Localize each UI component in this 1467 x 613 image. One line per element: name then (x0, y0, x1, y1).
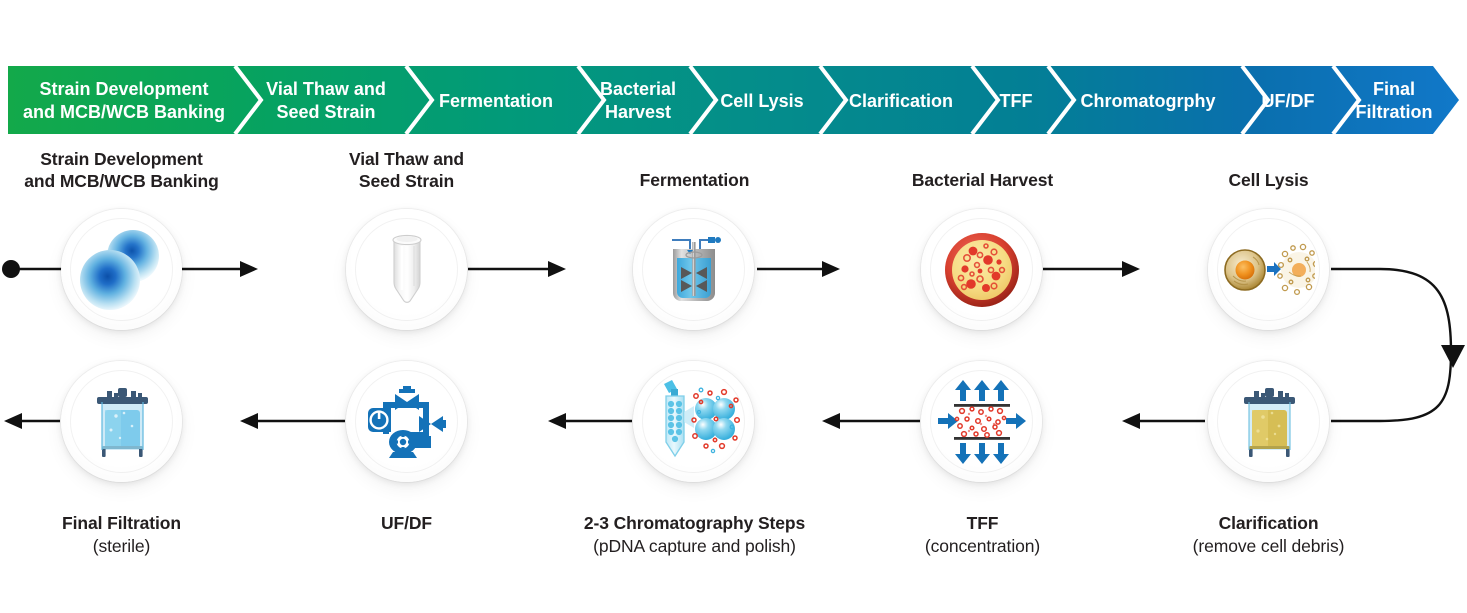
process-step-banner: Strain Developmentand MCB/WCB Banking Vi… (8, 66, 1459, 134)
bottom-label-tff: TFF (concentration) (861, 490, 1104, 580)
u-turn-arrowhead (1441, 345, 1465, 368)
node-final-filtration[interactable] (61, 361, 182, 482)
petri-dish-icon (936, 224, 1028, 316)
node-fermentation[interactable] (633, 209, 754, 330)
tangential-flow-icon (936, 376, 1028, 468)
bioreactor-icon (648, 224, 740, 316)
banner-step-2-label: Fermentation (439, 91, 553, 111)
node-vial-thaw[interactable] (346, 209, 467, 330)
bottom-label-final-filtration-sub: (sterile) (0, 535, 243, 557)
vial-tube-icon (361, 224, 453, 316)
bottom-label-chromatography-sub: (pDNA capture and polish) (538, 535, 851, 557)
node-strain-development[interactable] (61, 209, 182, 330)
top-label-vial-thaw: Vial Thaw and Seed Strain (285, 148, 528, 193)
node-bacterial-harvest[interactable] (921, 209, 1042, 330)
dividing-cells-icon (76, 224, 168, 316)
banner-step-5-label: Clarification (849, 91, 953, 111)
node-clarification[interactable] (1208, 361, 1329, 482)
bottom-label-tff-title: TFF (967, 513, 999, 533)
top-label-bacterial-harvest: Bacterial Harvest (861, 169, 1104, 191)
node-cell-lysis[interactable] (1208, 209, 1329, 330)
bottom-label-clarification-title: Clarification (1219, 513, 1319, 533)
node-tff[interactable] (921, 361, 1042, 482)
top-label-strain-development: Strain Development and MCB/WCB Banking (0, 148, 243, 193)
top-label-cell-lysis: Cell Lysis (1147, 169, 1390, 191)
bottom-label-ufdf-title: UF/DF (381, 513, 432, 533)
node-ufdf[interactable] (346, 361, 467, 482)
bottom-label-final-filtration: Final Filtration (sterile) (0, 490, 243, 580)
bottom-label-chromatography: 2-3 Chromatography Steps (pDNA capture a… (538, 490, 851, 580)
flow-start-dot (2, 260, 20, 278)
bottom-label-ufdf: UF/DF (285, 490, 528, 557)
bottom-label-tff-sub: (concentration) (861, 535, 1104, 557)
bottom-label-clarification-sub: (remove cell debris) (1147, 535, 1390, 557)
node-chromatography[interactable] (633, 361, 754, 482)
bottom-label-chromatography-title: 2-3 Chromatography Steps (584, 513, 805, 533)
bottom-label-clarification: Clarification (remove cell debris) (1147, 490, 1390, 580)
banner-step-6-label: TFF (1000, 91, 1033, 111)
cell-lysis-icon (1223, 224, 1315, 316)
banner-step-8-label: UF/DF (1262, 91, 1315, 111)
clarification-tank-icon (1223, 376, 1315, 468)
banner-step-7-label: Chromatogrphy (1081, 91, 1216, 111)
filtration-tank-icon (76, 376, 168, 468)
banner-step-4-label: Cell Lysis (720, 91, 803, 111)
top-label-fermentation: Fermentation (573, 169, 816, 191)
piping-schematic-icon (361, 376, 453, 468)
bottom-label-final-filtration-title: Final Filtration (62, 513, 181, 533)
process-flow-diagram: Strain Developmentand MCB/WCB Banking Vi… (0, 0, 1467, 613)
chromatography-column-icon (648, 376, 740, 468)
